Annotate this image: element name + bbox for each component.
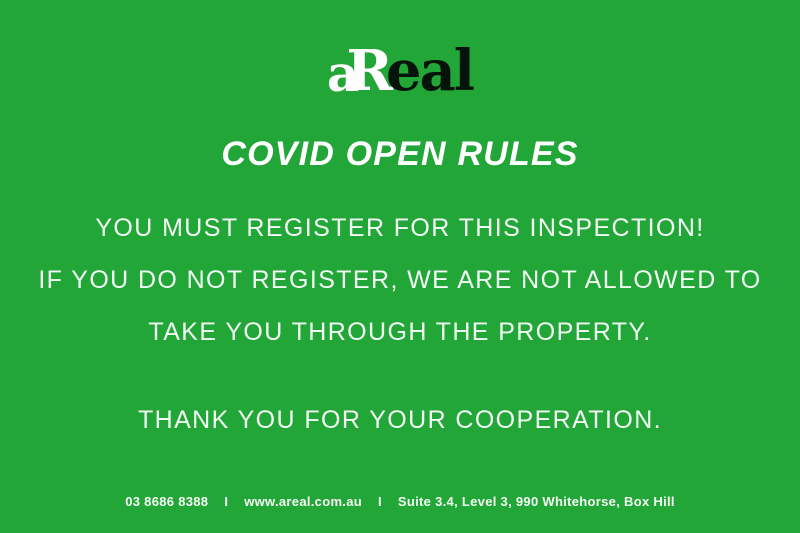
brand-logo: aReal	[327, 38, 473, 100]
logo-letter-a: a	[327, 47, 356, 101]
contact-footer: 03 8686 8388 I www.areal.com.au I Suite …	[0, 493, 800, 511]
notice-line: TAKE YOU THROUGH THE PROPERTY.	[0, 306, 800, 358]
notice-body: YOU MUST REGISTER FOR THIS INSPECTION! I…	[0, 202, 800, 446]
notice-line: YOU MUST REGISTER FOR THIS INSPECTION!	[0, 202, 800, 254]
notice-line: THANK YOU FOR YOUR COOPERATION.	[0, 394, 800, 446]
covid-notice-flyer: aReal COVID OPEN RULES YOU MUST REGISTER…	[0, 0, 800, 533]
footer-separator: I	[208, 494, 244, 509]
footer-separator: I	[362, 494, 398, 509]
logo-letters-eal: eal	[386, 44, 473, 98]
footer-phone: 03 8686 8388	[125, 494, 208, 509]
notice-line: IF YOU DO NOT REGISTER, WE ARE NOT ALLOW…	[0, 254, 800, 306]
footer-contact-strip: 03 8686 8388 I www.areal.com.au I Suite …	[125, 494, 675, 509]
footer-website[interactable]: www.areal.com.au	[244, 494, 362, 509]
footer-address: Suite 3.4, Level 3, 990 Whitehorse, Box …	[398, 494, 675, 509]
page-title: COVID OPEN RULES	[221, 134, 578, 174]
logo-wordmark: aReal	[327, 44, 473, 100]
